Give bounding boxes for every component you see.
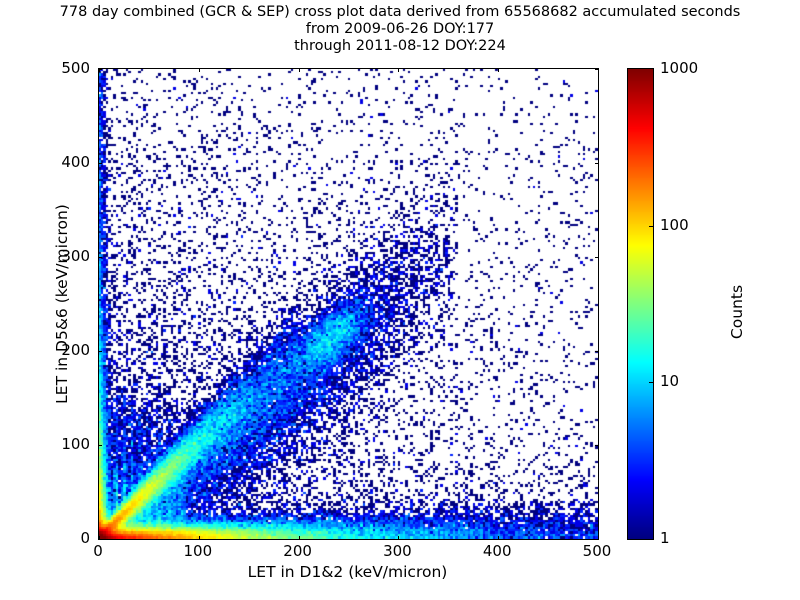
density-heatmap xyxy=(99,69,598,539)
x-tick-mark xyxy=(398,536,399,540)
figure-root: 778 day combined (GCR & SEP) cross plot … xyxy=(0,0,800,600)
y-tick-mark xyxy=(98,445,102,446)
colorbar-tick-label: 1 xyxy=(660,529,670,547)
x-tick-mark-top xyxy=(199,68,200,72)
x-tick-label: 300 xyxy=(383,542,412,560)
x-tick-mark xyxy=(199,536,200,540)
y-tick-mark xyxy=(98,257,102,258)
y-tick-mark-right xyxy=(595,351,599,352)
y-tick-label: 200 xyxy=(0,341,90,359)
colorbar-title: Counts xyxy=(728,187,746,437)
title-line-2: from 2009-06-26 DOY:177 xyxy=(0,21,800,38)
colorbar-tick-label: 100 xyxy=(660,216,689,234)
x-tick-label: 200 xyxy=(283,542,312,560)
y-tick-mark xyxy=(98,351,102,352)
y-tick-mark xyxy=(98,163,102,164)
y-tick-label: 500 xyxy=(0,59,90,77)
y-tick-mark-right xyxy=(595,445,599,446)
x-tick-mark-top xyxy=(398,68,399,72)
y-tick-mark-right xyxy=(595,257,599,258)
y-axis-title: LET in D5&6 (keV/micron) xyxy=(53,69,71,539)
x-tick-mark xyxy=(299,536,300,540)
x-tick-label: 0 xyxy=(93,542,103,560)
colorbar-tick-mark xyxy=(649,382,654,383)
x-tick-mark-top xyxy=(498,68,499,72)
title-line-1: 778 day combined (GCR & SEP) cross plot … xyxy=(0,4,800,21)
y-tick-mark xyxy=(98,69,102,70)
x-tick-mark xyxy=(498,536,499,540)
colorbar-tick-label: 10 xyxy=(660,372,679,390)
x-tick-mark-top xyxy=(299,68,300,72)
colorbar-gradient xyxy=(628,69,653,539)
title-line-3: through 2011-08-12 DOY:224 xyxy=(0,38,800,55)
y-tick-mark-right xyxy=(595,69,599,70)
plot-area[interactable] xyxy=(98,68,599,540)
y-tick-mark xyxy=(98,539,102,540)
y-tick-label: 100 xyxy=(0,435,90,453)
x-tick-label: 400 xyxy=(483,542,512,560)
colorbar-tick-mark xyxy=(649,226,654,227)
y-tick-label: 300 xyxy=(0,247,90,265)
y-tick-mark-right xyxy=(595,539,599,540)
y-tick-mark-right xyxy=(595,163,599,164)
y-tick-label: 400 xyxy=(0,153,90,171)
colorbar[interactable] xyxy=(627,68,654,540)
x-axis-title: LET in D1&2 (keV/micron) xyxy=(98,563,597,581)
x-tick-label: 100 xyxy=(183,542,212,560)
colorbar-tick-label: 1000 xyxy=(660,59,698,77)
y-tick-label: 0 xyxy=(0,529,90,547)
x-tick-label: 500 xyxy=(583,542,612,560)
figure-title: 778 day combined (GCR & SEP) cross plot … xyxy=(0,4,800,55)
